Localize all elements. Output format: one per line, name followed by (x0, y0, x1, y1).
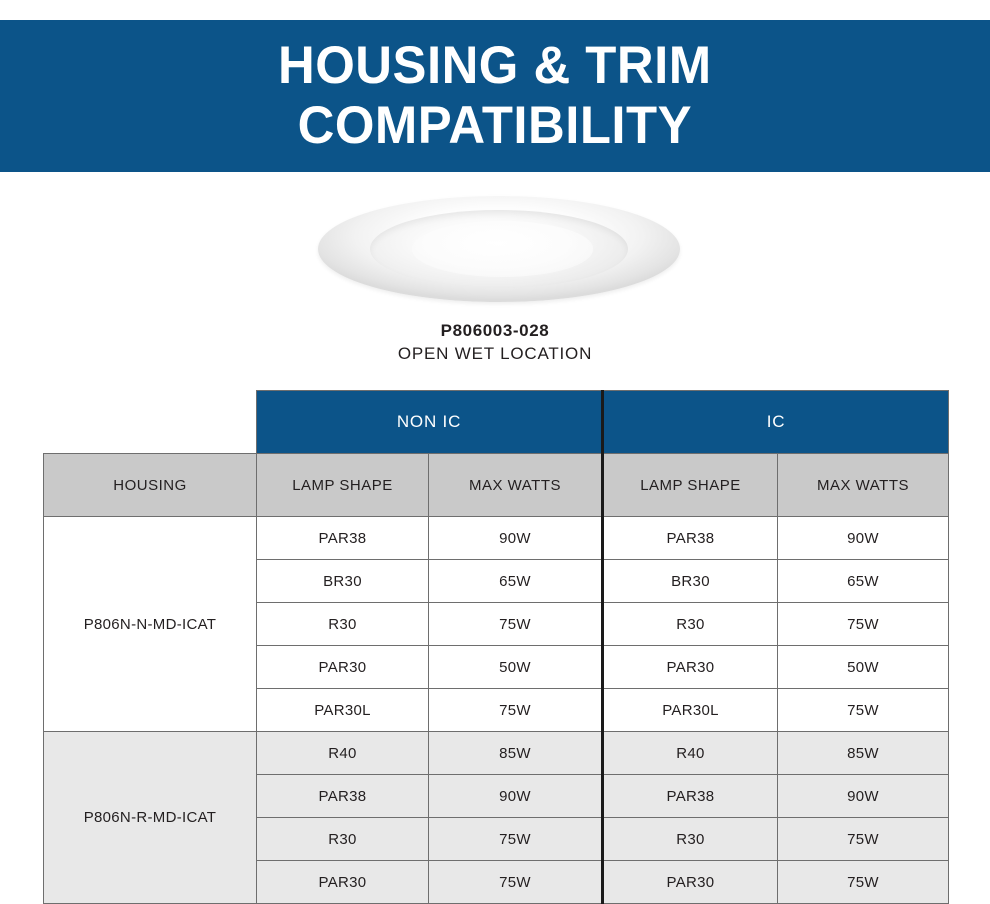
compatibility-table: NON IC IC HOUSING LAMP SHAPE MAX WATTS L… (43, 390, 949, 904)
product-caption: P806003-028 OPEN WET LOCATION (0, 320, 990, 366)
cell-max-watts-non-ic: 75W (429, 818, 603, 861)
table-row: P806N-N-MD-ICAT PAR38 90W PAR38 90W (44, 517, 949, 560)
product-sku: P806003-028 (0, 320, 990, 342)
page-header-banner: HOUSING & TRIM COMPATIBILITY (0, 20, 990, 172)
cell-lamp-shape-ic: PAR30 (603, 646, 778, 689)
cell-lamp-shape-ic: PAR38 (603, 775, 778, 818)
cell-max-watts-ic: 90W (778, 775, 949, 818)
cell-max-watts-ic: 75W (778, 603, 949, 646)
cell-max-watts-ic: 50W (778, 646, 949, 689)
cell-lamp-shape-ic: BR30 (603, 560, 778, 603)
cell-lamp-shape-ic: PAR38 (603, 517, 778, 560)
column-header-housing: HOUSING (44, 454, 257, 517)
cell-lamp-shape-non-ic: PAR30 (257, 646, 429, 689)
cell-lamp-shape-non-ic: PAR30L (257, 689, 429, 732)
table-row: P806N-R-MD-ICAT R40 85W R40 85W (44, 732, 949, 775)
cell-max-watts-ic: 75W (778, 818, 949, 861)
cell-lamp-shape-ic: R30 (603, 818, 778, 861)
housing-label-group-a: P806N-N-MD-ICAT (44, 517, 257, 732)
cell-lamp-shape-non-ic: PAR38 (257, 775, 429, 818)
group-header-ic: IC (603, 391, 949, 454)
cell-max-watts-non-ic: 85W (429, 732, 603, 775)
housing-label-group-b: P806N-R-MD-ICAT (44, 732, 257, 904)
cell-lamp-shape-non-ic: PAR30 (257, 861, 429, 904)
column-header-lamp-shape-ic: LAMP SHAPE (603, 454, 778, 517)
cell-lamp-shape-ic: R30 (603, 603, 778, 646)
cell-max-watts-non-ic: 90W (429, 517, 603, 560)
table-column-header-row: HOUSING LAMP SHAPE MAX WATTS LAMP SHAPE … (44, 454, 949, 517)
cell-max-watts-ic: 75W (778, 689, 949, 732)
cell-max-watts-non-ic: 50W (429, 646, 603, 689)
cell-max-watts-non-ic: 90W (429, 775, 603, 818)
product-image-area (0, 186, 990, 316)
cell-lamp-shape-non-ic: BR30 (257, 560, 429, 603)
trim-center-highlight (412, 221, 593, 276)
column-header-max-watts-ic: MAX WATTS (778, 454, 949, 517)
cell-max-watts-non-ic: 65W (429, 560, 603, 603)
cell-max-watts-non-ic: 75W (429, 861, 603, 904)
page-title: HOUSING & TRIM COMPATIBILITY (278, 36, 712, 156)
cell-lamp-shape-non-ic: PAR38 (257, 517, 429, 560)
header-spacer-cell (44, 391, 257, 454)
cell-lamp-shape-non-ic: R30 (257, 603, 429, 646)
recessed-light-trim-image (318, 196, 680, 302)
column-header-lamp-shape-non-ic: LAMP SHAPE (257, 454, 429, 517)
cell-lamp-shape-non-ic: R30 (257, 818, 429, 861)
column-header-max-watts-non-ic: MAX WATTS (429, 454, 603, 517)
cell-max-watts-non-ic: 75W (429, 689, 603, 732)
cell-max-watts-ic: 90W (778, 517, 949, 560)
cell-max-watts-ic: 85W (778, 732, 949, 775)
cell-max-watts-ic: 75W (778, 861, 949, 904)
table-group-header-row: NON IC IC (44, 391, 949, 454)
product-description: OPEN WET LOCATION (0, 342, 990, 366)
cell-max-watts-non-ic: 75W (429, 603, 603, 646)
cell-lamp-shape-ic: PAR30 (603, 861, 778, 904)
compatibility-table-wrapper: NON IC IC HOUSING LAMP SHAPE MAX WATTS L… (43, 390, 948, 904)
group-header-non-ic: NON IC (257, 391, 603, 454)
cell-lamp-shape-non-ic: R40 (257, 732, 429, 775)
cell-lamp-shape-ic: PAR30L (603, 689, 778, 732)
cell-lamp-shape-ic: R40 (603, 732, 778, 775)
cell-max-watts-ic: 65W (778, 560, 949, 603)
